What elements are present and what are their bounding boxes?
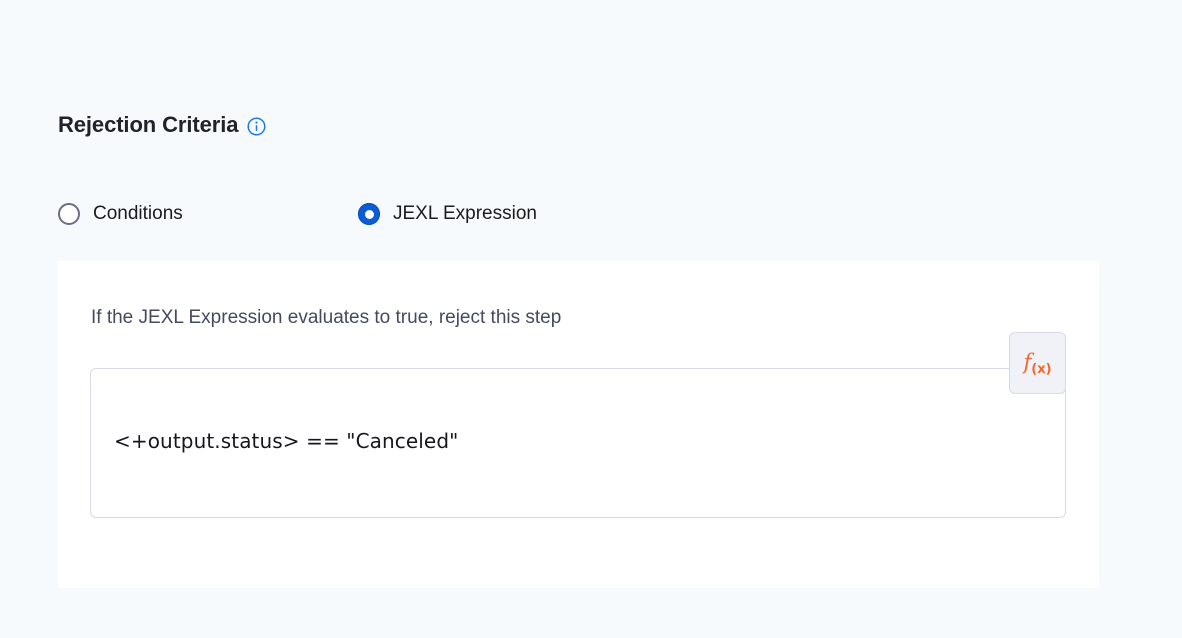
radio-label-jexl-expression: JEXL Expression <box>393 203 537 225</box>
radio-mark-jexl-expression[interactable] <box>358 203 380 225</box>
info-circle-icon[interactable] <box>247 117 266 136</box>
fx-button[interactable]: f(x) <box>1009 332 1066 394</box>
jexl-expression-panel: If the JEXL Expression evaluates to true… <box>58 261 1099 588</box>
radio-mark-conditions[interactable] <box>58 203 80 225</box>
expression-editor-wrapper: <+output.status> == "Canceled" f(x) <box>90 368 1066 518</box>
radio-option-jexl-expression[interactable]: JEXL Expression <box>358 198 537 230</box>
radio-option-conditions[interactable]: Conditions <box>58 198 358 230</box>
section-title: Rejection Criteria <box>58 110 238 140</box>
expression-value: <+output.status> == "Canceled" <box>114 428 458 454</box>
page-title: Rejection Criteria <box>58 110 266 140</box>
radio-label-conditions: Conditions <box>93 203 183 225</box>
criteria-type-radio-group: Conditions JEXL Expression <box>58 198 537 230</box>
fx-icon: f(x) <box>1023 352 1051 376</box>
panel-caption: If the JEXL Expression evaluates to true… <box>91 306 561 330</box>
fx-label-sub: (x) <box>1031 362 1051 377</box>
expression-input[interactable]: <+output.status> == "Canceled" <box>90 368 1066 518</box>
